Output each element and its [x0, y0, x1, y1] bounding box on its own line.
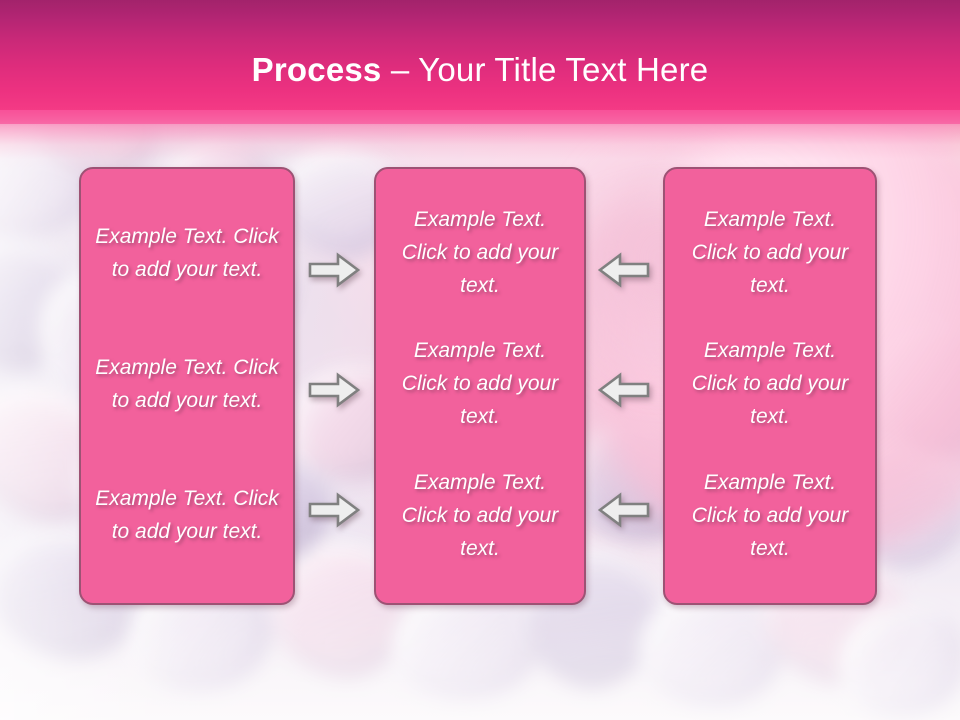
process-box-2-text-1[interactable]: Example Text. Click to add your text.	[390, 203, 570, 302]
page-title: Process – Your Title Text Here	[0, 50, 960, 90]
arrow-right-icon[interactable]	[308, 492, 360, 528]
process-box-2-text-2[interactable]: Example Text. Click to add your text.	[390, 334, 570, 433]
arrow-right-icon[interactable]	[308, 372, 360, 408]
process-box-3-text-3[interactable]: Example Text. Click to add your text.	[679, 466, 861, 565]
page-title-rest: – Your Title Text Here	[381, 51, 708, 88]
arrow-right-icon[interactable]	[308, 252, 360, 288]
process-box-2-text-3[interactable]: Example Text. Click to add your text.	[390, 466, 570, 565]
process-box-1-text-3[interactable]: Example Text. Click to add your text.	[95, 482, 279, 548]
process-box-3-text-2[interactable]: Example Text. Click to add your text.	[679, 334, 861, 433]
arrow-left-icon[interactable]	[598, 492, 650, 528]
process-box-3[interactable]: Example Text. Click to add your text. Ex…	[663, 167, 877, 605]
slide-canvas: Process – Your Title Text Here Example T…	[0, 0, 960, 720]
arrow-left-icon[interactable]	[598, 252, 650, 288]
process-box-1-text-1[interactable]: Example Text. Click to add your text.	[95, 220, 279, 286]
process-box-1-text-2[interactable]: Example Text. Click to add your text.	[95, 351, 279, 417]
process-box-3-text-1[interactable]: Example Text. Click to add your text.	[679, 203, 861, 302]
arrow-left-icon[interactable]	[598, 372, 650, 408]
process-box-2[interactable]: Example Text. Click to add your text. Ex…	[374, 167, 586, 605]
page-title-strong: Process	[252, 51, 382, 88]
process-box-1[interactable]: Example Text. Click to add your text. Ex…	[79, 167, 295, 605]
